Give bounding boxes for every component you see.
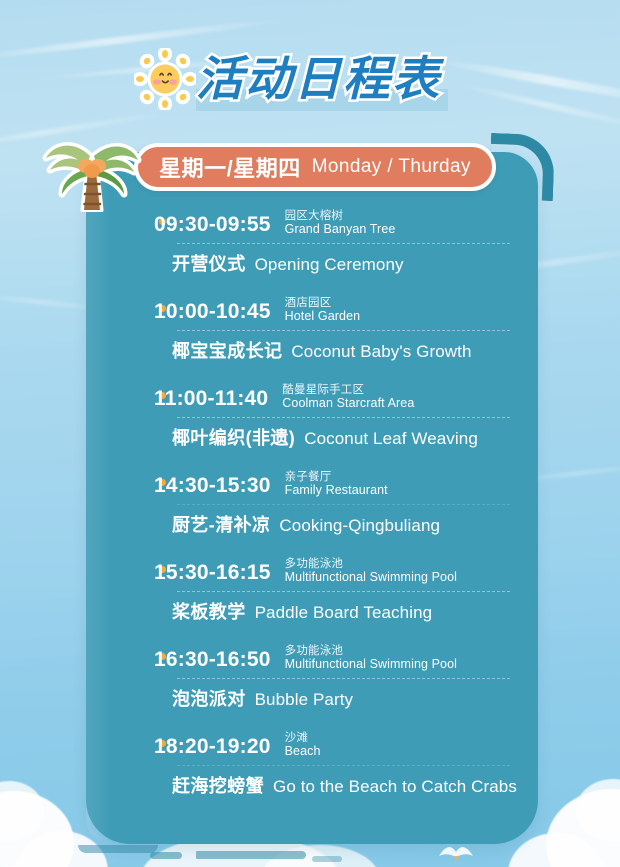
item-divider xyxy=(177,678,510,679)
item-divider xyxy=(177,591,510,592)
item-activity-en: Go to the Beach to Catch Crabs xyxy=(273,777,517,797)
item-time: 11:00-11:40 xyxy=(154,387,268,411)
item-activity-cn: 椰宝宝成长记 xyxy=(172,337,282,363)
seagull-icon xyxy=(437,843,475,863)
item-activity-en: Coconut Leaf Weaving xyxy=(304,429,478,449)
schedule-item[interactable]: 09:30-09:55 园区大榕树 Grand Banyan Tree 开营仪式… xyxy=(86,205,538,292)
item-activity-en: Cooking-Qingbuliang xyxy=(279,516,440,536)
item-activity-en: Bubble Party xyxy=(255,690,354,710)
item-location-en: Hotel Garden xyxy=(285,310,361,323)
item-time: 10:00-10:45 xyxy=(154,300,271,324)
item-location: 沙滩 Beach xyxy=(285,733,321,759)
schedule-item[interactable]: 11:00-11:40 酷曼星际手工区 Coolman Starcraft Ar… xyxy=(86,379,538,466)
item-activity-cn: 泡泡派对 xyxy=(172,685,246,711)
day-banner: 星期一/星期四 Monday / Thurday xyxy=(134,143,496,191)
item-time: 09:30-09:55 xyxy=(154,213,271,237)
item-location-en: Multifunctional Swimming Pool xyxy=(285,571,457,584)
poster-header: 活动日程表 xyxy=(0,44,620,118)
item-divider xyxy=(177,765,510,766)
item-activity-en: Opening Ceremony xyxy=(255,255,404,275)
item-divider xyxy=(177,504,510,505)
schedule-item[interactable]: 18:20-19:20 沙滩 Beach 赶海挖螃蟹 Go to the Bea… xyxy=(86,727,538,807)
wave-line-decoration xyxy=(150,852,182,859)
item-location: 亲子餐厅 Family Restaurant xyxy=(285,472,388,498)
item-location: 多功能泳池 Multifunctional Swimming Pool xyxy=(285,646,457,672)
schedule-list: 09:30-09:55 园区大榕树 Grand Banyan Tree 开营仪式… xyxy=(86,205,538,807)
item-activity-cn: 开营仪式 xyxy=(172,250,246,276)
day-label-cn: 星期一/星期四 xyxy=(159,151,301,183)
item-divider xyxy=(177,417,510,418)
day-label-en: Monday / Thurday xyxy=(312,156,471,178)
item-divider xyxy=(177,330,510,331)
schedule-item[interactable]: 14:30-15:30 亲子餐厅 Family Restaurant 厨艺-清补… xyxy=(86,466,538,553)
item-activity-cn: 桨板教学 xyxy=(172,598,246,624)
item-location: 酒店园区 Hotel Garden xyxy=(285,298,361,324)
item-activity-cn: 椰叶编织(非遗) xyxy=(172,424,295,450)
item-location-en: Grand Banyan Tree xyxy=(285,223,396,236)
schedule-item[interactable]: 15:30-16:15 多功能泳池 Multifunctional Swimmi… xyxy=(86,553,538,640)
sun-icon xyxy=(134,48,196,110)
item-location-en: Family Restaurant xyxy=(285,484,388,497)
item-location: 酷曼星际手工区 Coolman Starcraft Area xyxy=(282,385,414,411)
item-activity-en: Paddle Board Teaching xyxy=(255,603,433,623)
item-activity-cn: 赶海挖螃蟹 xyxy=(172,772,264,798)
wave-line-decoration xyxy=(196,851,306,859)
item-location: 多功能泳池 Multifunctional Swimming Pool xyxy=(285,559,457,585)
schedule-item[interactable]: 10:00-10:45 酒店园区 Hotel Garden 椰宝宝成长记 Coc… xyxy=(86,292,538,379)
item-time: 15:30-16:15 xyxy=(154,561,271,585)
item-location-en: Coolman Starcraft Area xyxy=(282,397,414,410)
item-location: 园区大榕树 Grand Banyan Tree xyxy=(285,211,396,237)
item-location-en: Beach xyxy=(285,745,321,758)
item-time: 14:30-15:30 xyxy=(154,474,271,498)
item-time: 16:30-16:50 xyxy=(154,648,271,672)
item-activity-en: Coconut Baby's Growth xyxy=(291,342,471,362)
wave-line-decoration xyxy=(78,845,158,853)
item-location-en: Multifunctional Swimming Pool xyxy=(285,658,457,671)
item-activity-cn: 厨艺-清补凉 xyxy=(172,511,270,537)
item-divider xyxy=(177,243,510,244)
item-time: 18:20-19:20 xyxy=(154,735,271,759)
palm-tree-icon xyxy=(34,126,152,212)
schedule-item[interactable]: 16:30-16:50 多功能泳池 Multifunctional Swimmi… xyxy=(86,640,538,727)
wave-line-decoration xyxy=(312,856,342,862)
page-title: 活动日程表 xyxy=(196,42,441,116)
